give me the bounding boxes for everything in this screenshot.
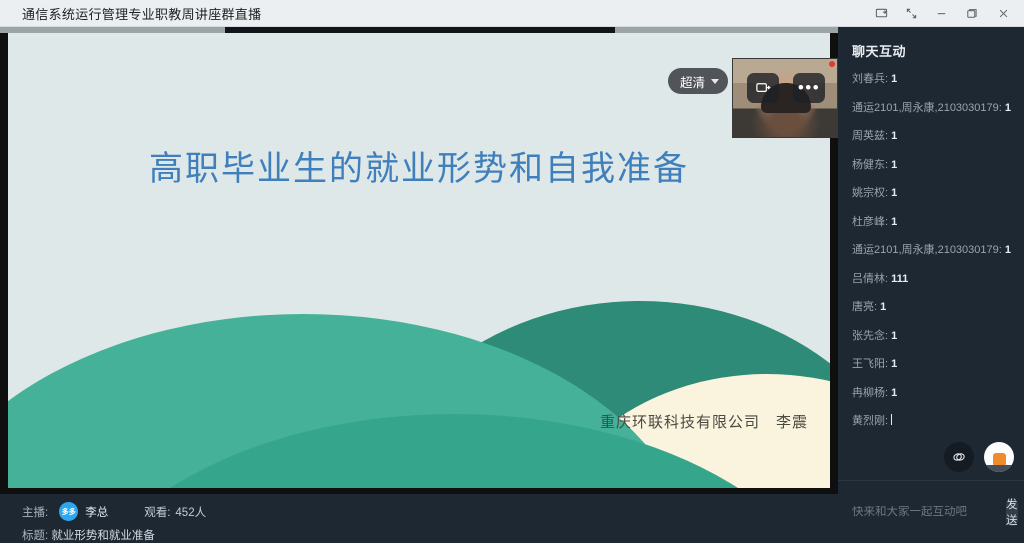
chat-message-text: 1 — [888, 387, 897, 399]
stream-title-value: 就业形势和就业准备 — [51, 530, 155, 542]
quality-selector[interactable]: 超清 — [668, 68, 728, 94]
window-title-bar: 通信系统运行管理专业职教周讲座群直播 — [0, 0, 1024, 27]
chat-message-author: 冉柳杨: — [852, 387, 888, 399]
chat-message-text: 1 — [1002, 244, 1011, 256]
chat-message: 冉柳杨: 1 — [852, 386, 1014, 400]
chat-message-text: 111 — [888, 273, 908, 285]
chat-message-text: 1 — [1002, 102, 1011, 114]
chat-message-author: 通运2101,周永康,2103030179: — [852, 244, 1002, 256]
chat-message: 通运2101,周永康,2103030179: 1 — [852, 101, 1014, 115]
viewers-label: 观看: — [144, 504, 170, 520]
chat-message-author: 唐亮: — [852, 301, 877, 313]
slide-credit: 重庆环联科技有限公司 李震 — [600, 411, 808, 432]
stream-info-row-title: 标题: 就业形势和就业准备 — [22, 527, 838, 543]
stream-info-bar: 主播: 多多 李总 观看: 452人 标题: 就业形势和就业准备 — [0, 494, 838, 543]
chat-message-author: 吕倩林: — [852, 273, 888, 285]
more-options-button[interactable]: ••• — [793, 73, 825, 103]
chat-message-author: 通运2101,周永康,2103030179: — [852, 102, 1002, 114]
chat-message-author: 周英兹: — [852, 130, 888, 142]
chat-float-buttons — [944, 442, 1014, 472]
chat-message-author: 黄烈刚: — [852, 415, 888, 427]
chat-message: 杜彦峰: 1 — [852, 215, 1014, 229]
host-name: 李总 — [85, 504, 108, 520]
chat-message-list[interactable]: 刘春兵: 1通运2101,周永康,2103030179: 1周英兹: 1杨健东:… — [838, 68, 1024, 480]
chat-message-author: 王飞阳: — [852, 358, 888, 370]
window-title: 通信系统运行管理专业职教周讲座群直播 — [22, 4, 261, 23]
chat-message-author: 刘春兵: — [852, 73, 888, 85]
send-button[interactable]: 发送 — [1006, 499, 1018, 526]
chat-message-author: 姚宗权: — [852, 187, 888, 199]
host-label: 主播: — [22, 504, 48, 520]
chat-message-text: 1 — [888, 73, 897, 85]
cast-screen-icon[interactable] — [866, 0, 896, 27]
chat-message: 姚宗权: 1 — [852, 186, 1014, 200]
chat-message: 杨健东: 1 — [852, 158, 1014, 172]
quality-label: 超清 — [680, 72, 705, 91]
chat-message-text: 1 — [888, 330, 897, 342]
chat-message-text: 1 — [888, 159, 897, 171]
chat-message-text: 1 — [888, 130, 897, 142]
chat-message: 张先念: 1 — [852, 329, 1014, 343]
minimize-icon[interactable] — [926, 0, 956, 27]
chat-message: 周英兹: 1 — [852, 129, 1014, 143]
avatar-text: 多多 — [62, 507, 76, 517]
gift-base-shape — [984, 465, 1014, 472]
screen-share-icon[interactable] — [747, 73, 779, 103]
presenter-camera-thumbnail[interactable]: ••• — [732, 58, 838, 138]
link-icon[interactable] — [944, 442, 974, 472]
recording-indicator-dot — [829, 61, 835, 67]
chat-message: 唐亮: 1 — [852, 300, 1014, 314]
chat-message-text: 1 — [888, 358, 897, 370]
maximize-icon[interactable] — [956, 0, 986, 27]
slide-title: 高职毕业生的就业形势和自我准备 — [8, 141, 830, 190]
chat-message: 王飞阳: 1 — [852, 357, 1014, 371]
chat-message: 通运2101,周永康,2103030179: 1 — [852, 243, 1014, 257]
gift-icon[interactable] — [984, 442, 1014, 472]
live-stream-window: 通信系统运行管理专业职教周讲座群直播 — [0, 0, 1024, 543]
chat-input-row: 发送 — [838, 480, 1024, 543]
chat-message-author: 杜彦峰: — [852, 216, 888, 228]
window-controls — [866, 0, 1024, 26]
expand-arrows-icon[interactable] — [896, 0, 926, 27]
viewers-count: 452人 — [175, 504, 206, 520]
chat-input[interactable] — [852, 506, 1006, 518]
chat-message-text: 1 — [888, 216, 897, 228]
stream-info-row-host: 主播: 多多 李总 观看: 452人 — [22, 501, 838, 522]
chat-panel-title: 聊天互动 — [838, 27, 1024, 68]
gift-thumb-shape — [993, 453, 1006, 465]
text-cursor — [891, 414, 892, 425]
avatar[interactable]: 多多 — [59, 502, 78, 521]
chat-message-author: 张先念: — [852, 330, 888, 342]
chevron-down-icon — [711, 79, 719, 84]
stream-title-label: 标题: — [22, 530, 48, 542]
shared-slide: 高职毕业生的就业形势和自我准备 重庆环联科技有限公司 李震 — [8, 33, 830, 488]
chat-panel: 聊天互动 刘春兵: 1通运2101,周永康,2103030179: 1周英兹: … — [838, 27, 1024, 543]
chat-message: 黄烈刚: — [852, 414, 1014, 428]
chat-message-text: 1 — [888, 187, 897, 199]
video-stage[interactable]: 高职毕业生的就业形势和自我准备 重庆环联科技有限公司 李震 超清 ••• — [0, 27, 838, 494]
chat-message-author: 杨健东: — [852, 159, 888, 171]
chat-message: 吕倩林: 111 — [852, 272, 1014, 286]
chat-message-text: 1 — [877, 301, 886, 313]
close-icon[interactable] — [986, 0, 1020, 27]
chat-message: 刘春兵: 1 — [852, 72, 1014, 86]
